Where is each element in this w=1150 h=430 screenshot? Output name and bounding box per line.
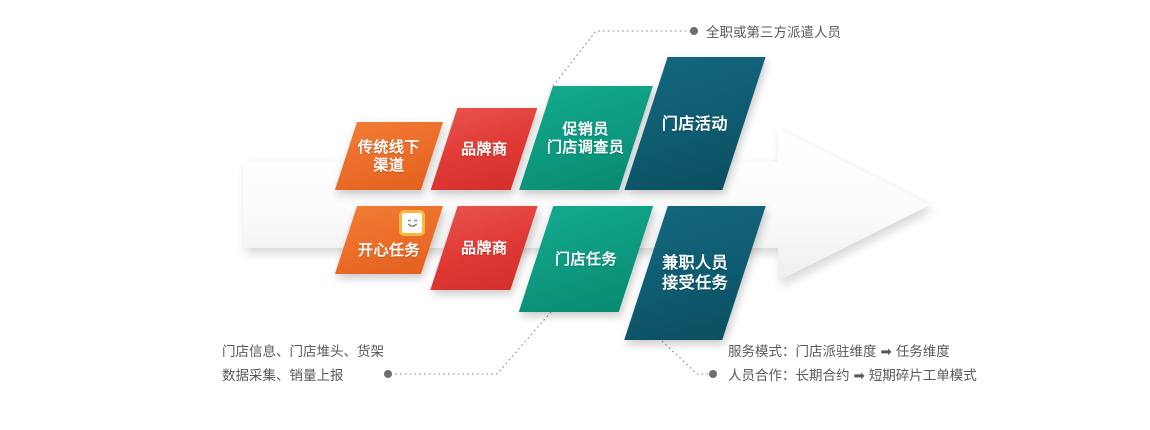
annotation-bottom-right: 服务模式：门店派驻维度➡任务维度 人员合作：长期合约➡短期碎片工单模式 — [728, 341, 977, 388]
annotation-bottom-left: 门店信息、门店堆头、货架 数据采集、销量上报 — [222, 341, 384, 388]
annotation-line-1: 服务模式：门店派驻维度➡任务维度 — [728, 341, 977, 365]
block-label: 门店任务 — [555, 250, 617, 268]
service-mode-suffix: 任务维度 — [896, 344, 950, 360]
block-label: 品牌商 — [461, 239, 508, 257]
connector-bottom-left — [384, 312, 551, 378]
smiley-glyph — [405, 216, 420, 231]
right-arrow-icon: ➡ — [877, 344, 896, 360]
staff-cooperation-prefix: 人员合作：长期合约 — [728, 368, 850, 384]
annotation-top-right: 全职或第三方派遣人员 — [706, 22, 841, 46]
right-arrow-icon: ➡ — [850, 368, 869, 384]
diagram-canvas: 传统线下 渠道 品牌商 促销员 门店调查员 门店活动 开心任务 品牌商 门店任务… — [0, 0, 1150, 430]
annotation-line-2: 数据采集、销量上报 — [222, 365, 384, 389]
annotation-line: 全职或第三方派遣人员 — [706, 22, 841, 46]
service-mode-prefix: 服务模式：门店派驻维度 — [728, 344, 877, 360]
block-label: 品牌商 — [461, 140, 508, 158]
annotation-line-1: 门店信息、门店堆头、货架 — [222, 341, 384, 365]
block-label: 兼职人员 接受任务 — [662, 253, 728, 292]
block-label: 门店活动 — [662, 114, 728, 134]
block-label: 促销员 门店调查员 — [547, 120, 625, 157]
smiley-icon — [399, 210, 425, 236]
annotation-line-2: 人员合作：长期合约➡短期碎片工单模式 — [728, 365, 977, 389]
block-label: 传统线下 渠道 — [358, 138, 420, 175]
connector-bottom-right — [662, 341, 717, 378]
staff-cooperation-suffix: 短期碎片工单模式 — [869, 368, 977, 384]
